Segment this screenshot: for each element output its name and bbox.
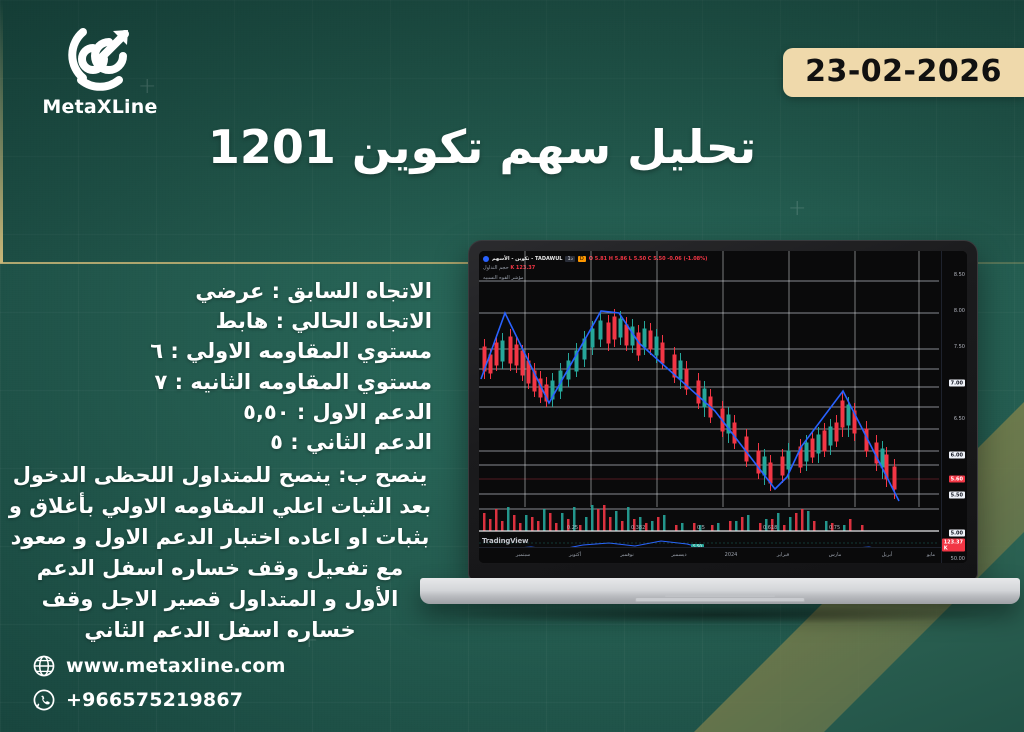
tradingview-chart[interactable]: تكوين - الأسهم - TADAWUL 1د D O 5.81 H 5… — [479, 251, 967, 563]
time-axis[interactable]: سبتمبر أكتوبر نوفمبر ديسمبر 2024 فبراير … — [479, 547, 941, 563]
time-label: مارس — [829, 552, 842, 558]
laptop-lid: تكوين - الأسهم - TADAWUL 1د D O 5.81 H 5… — [468, 240, 978, 580]
zigzag-trendline — [481, 311, 899, 501]
fib-label: 0.5 — [697, 525, 705, 531]
fib-label: 0.75 — [829, 525, 840, 531]
brand-logo-text: MetaXLine — [30, 96, 170, 118]
time-label: مايو — [927, 552, 935, 558]
price-label: 8.50 — [954, 272, 965, 278]
chart-plot-area — [479, 251, 967, 563]
analysis-line-prev-trend: الاتجاه السابق : عرضي — [8, 276, 432, 306]
whatsapp-icon — [32, 688, 56, 712]
fib-label: 0.618 — [763, 525, 777, 531]
analysis-line-support2: الدعم الثاني : ٥ — [8, 427, 432, 457]
footer-contact: www.metaxline.com +966575219867 — [32, 644, 286, 712]
rsi-midline-label: 50.00 — [951, 556, 965, 562]
fib-label: 0.382 — [631, 525, 645, 531]
price-label: 7.50 — [954, 344, 965, 350]
fib-label: 0.25 — [567, 525, 578, 531]
chart-vertical-gridlines — [525, 251, 919, 507]
analysis-line-curr-trend: الاتجاه الحالي : هابط — [8, 306, 432, 336]
volume-value-label: 123.37 K — [942, 539, 965, 552]
footer-phone-row[interactable]: +966575219867 — [32, 688, 286, 712]
footer-website-text: www.metaxline.com — [66, 655, 286, 677]
price-label: 6.50 — [954, 416, 965, 422]
footer-phone-text: +966575219867 — [66, 689, 243, 711]
tradingview-logo: TradingView — [482, 537, 528, 545]
analysis-line-support1: الدعم الاول : ٥,٥٠ — [8, 397, 432, 427]
laptop-screen: تكوين - الأسهم - TADAWUL 1د D O 5.81 H 5… — [479, 251, 967, 563]
analysis-text-block: الاتجاه السابق : عرضي الاتجاه الحالي : ه… — [8, 276, 432, 646]
time-label: أكتوبر — [569, 552, 581, 558]
globe-icon — [32, 654, 56, 678]
date-badge: 23-02-2026 — [783, 48, 1024, 97]
time-label: ديسمبر — [671, 552, 686, 558]
time-label: نوفمبر — [620, 552, 634, 558]
laptop-trackpad — [635, 597, 805, 602]
price-label-current: 5.60 — [949, 476, 965, 483]
price-label-support1: 5.50 — [949, 492, 965, 499]
analysis-advice-paragraph: ينصح ب: ينصح للمتداول اللحظى الدخول بعد … — [8, 460, 432, 645]
brand-logo: MetaXLine — [30, 18, 170, 118]
time-label-year: 2024 — [725, 552, 738, 558]
laptop-mockup: تكوين - الأسهم - TADAWUL 1د D O 5.81 H 5… — [420, 240, 1020, 640]
price-label-resistance1: 6.00 — [949, 452, 965, 459]
price-label: 8.00 — [954, 308, 965, 314]
time-label: أبريل — [882, 552, 893, 558]
circular-arrow-growth-icon — [30, 18, 170, 92]
footer-website-row[interactable]: www.metaxline.com — [32, 654, 286, 678]
price-axis[interactable]: 8.50 8.00 7.50 7.00 6.50 6.00 5.60 5.50 … — [941, 251, 967, 563]
time-label: فبراير — [777, 552, 789, 558]
analysis-line-resistance1: مستوي المقاومه الاولي : ٦ — [8, 336, 432, 366]
price-label-resistance2: 7.00 — [949, 380, 965, 387]
laptop-shadow — [450, 606, 990, 624]
price-label-support2: 5.00 — [949, 530, 965, 537]
analysis-line-resistance2: مستوي المقاومه الثانيه : ٧ — [8, 367, 432, 397]
plus-decoration-icon: + — [788, 198, 806, 220]
page-title: تحليل سهم تكوين 1201 — [0, 120, 1024, 174]
time-label: سبتمبر — [516, 552, 530, 558]
